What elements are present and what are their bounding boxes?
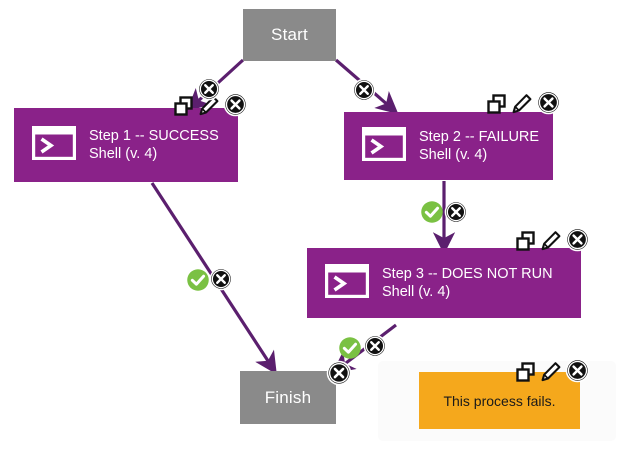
connector-step1-to-finish-success-check-icon[interactable] (186, 268, 210, 297)
node-step3-line1: Step 3 -- DOES NOT RUN (382, 266, 553, 282)
step3-toolbar (515, 227, 590, 257)
connector-step1-to-finish-delete-circle-x-icon[interactable] (209, 267, 233, 296)
node-step1-text: Step 1 -- SUCCESS Shell (v. 4) (89, 127, 219, 163)
workflow-diagram-canvas: Start Step 1 -- SUCCESS Shell (v. 4) Ste… (0, 0, 618, 449)
copy-icon[interactable] (486, 93, 508, 120)
pencil-edit-icon[interactable] (540, 230, 562, 257)
pencil-edit-icon[interactable] (540, 361, 562, 388)
copy-icon[interactable] (515, 230, 537, 257)
node-step1-line1: Step 1 -- SUCCESS (89, 128, 219, 144)
shell-console-icon (32, 126, 76, 165)
connector-start-to-step2-delete-circle-x-icon[interactable] (352, 78, 376, 107)
copy-icon[interactable] (173, 95, 195, 122)
node-step2[interactable]: Step 2 -- FAILURE Shell (v. 4) (344, 112, 553, 180)
step2-toolbar (486, 90, 561, 120)
node-step2-line1: Step 2 -- FAILURE (419, 129, 539, 145)
shell-console-icon (325, 264, 369, 303)
shell-console-icon (362, 127, 406, 166)
note-toolbar (515, 358, 590, 388)
node-finish-label: Finish (265, 388, 312, 408)
node-finish-delete-circle-x-icon[interactable] (326, 360, 352, 391)
pencil-edit-icon[interactable] (511, 93, 533, 120)
copy-icon[interactable] (515, 361, 537, 388)
node-step2-text: Step 2 -- FAILURE Shell (v. 4) (419, 128, 539, 164)
node-start-label: Start (271, 25, 308, 45)
node-step2-line2: Shell (v. 4) (419, 146, 539, 164)
connector-step2-to-step3-success-check-icon[interactable] (420, 200, 444, 229)
delete-circle-x-icon[interactable] (565, 227, 590, 257)
connector-step2-to-step3-delete-circle-x-icon[interactable] (444, 200, 468, 229)
node-step3-line2: Shell (v. 4) (382, 283, 553, 301)
delete-circle-x-icon[interactable] (223, 92, 248, 122)
annotation-note-label: This process fails. (443, 393, 555, 409)
node-step3[interactable]: Step 3 -- DOES NOT RUN Shell (v. 4) (307, 248, 581, 318)
connector-step3-to-finish-delete-circle-x-icon[interactable] (363, 334, 387, 363)
delete-circle-x-icon[interactable] (565, 358, 590, 388)
node-step3-text: Step 3 -- DOES NOT RUN Shell (v. 4) (382, 265, 553, 301)
node-step1-line2: Shell (v. 4) (89, 145, 219, 163)
connector-start-to-step1-delete-circle-x-icon[interactable] (197, 77, 221, 106)
delete-circle-x-icon[interactable] (536, 90, 561, 120)
node-start[interactable]: Start (243, 9, 336, 61)
node-finish[interactable]: Finish (240, 371, 336, 424)
